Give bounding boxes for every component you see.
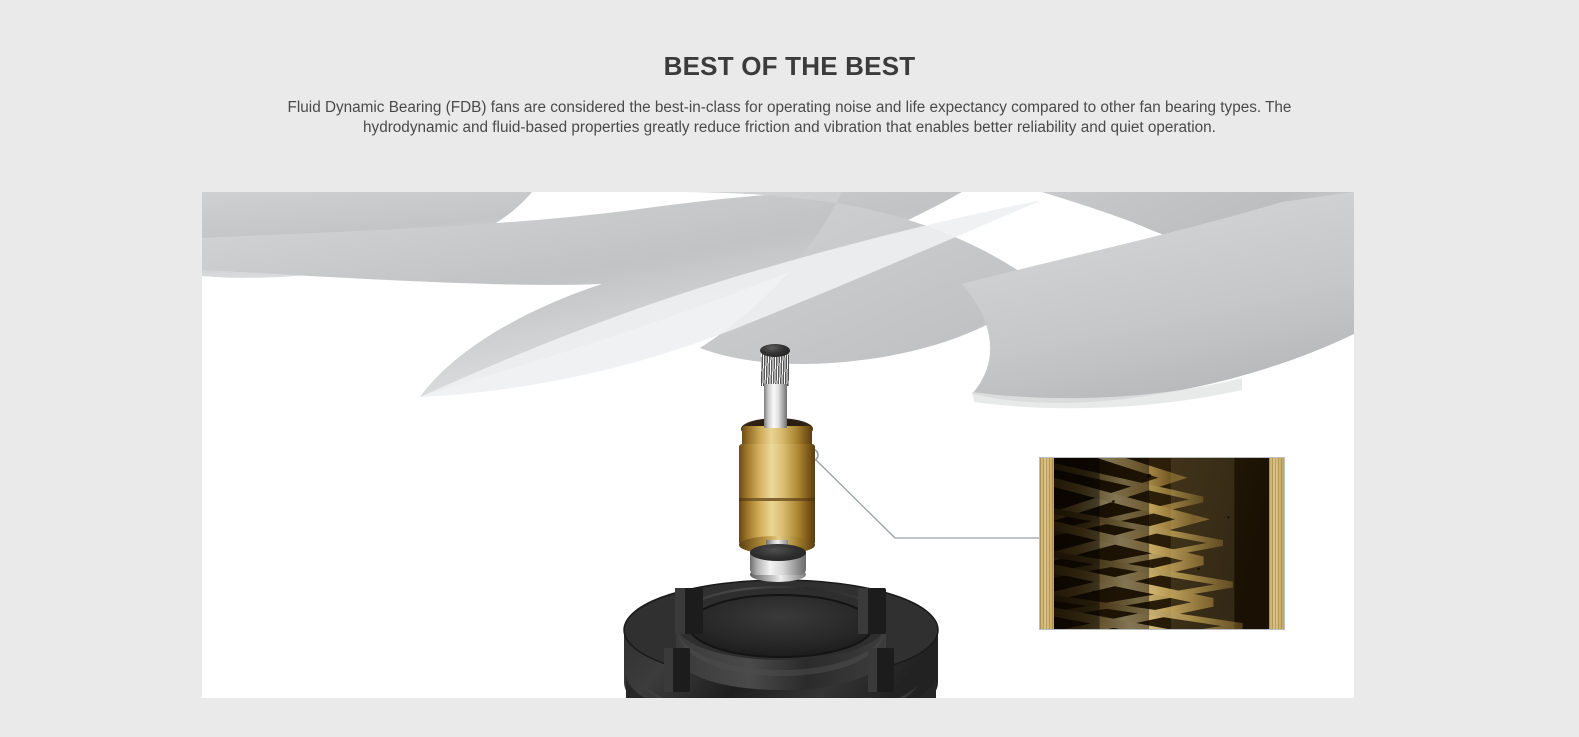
bearing-shaft bbox=[764, 384, 787, 428]
herringbone-groove-image bbox=[1054, 458, 1269, 629]
black-motor-hub bbox=[616, 574, 946, 698]
inset-left-edge-strip bbox=[1040, 458, 1054, 629]
shaft-cap bbox=[760, 344, 790, 357]
brass-sleeve-seam bbox=[739, 498, 815, 501]
inset-right-edge-strip bbox=[1269, 458, 1284, 629]
bearing-assembly bbox=[722, 340, 882, 580]
groove-magnification-inset bbox=[1039, 457, 1285, 630]
product-feature-section: BEST OF THE BEST Fluid Dynamic Bearing (… bbox=[0, 0, 1579, 737]
product-illustration-panel bbox=[202, 192, 1354, 698]
page-title: BEST OF THE BEST bbox=[0, 0, 1579, 81]
herringbone-pattern bbox=[1054, 458, 1269, 629]
washer-top-face bbox=[750, 544, 806, 561]
section-description: Fluid Dynamic Bearing (FDB) fans are con… bbox=[245, 81, 1335, 139]
heading-block: BEST OF THE BEST Fluid Dynamic Bearing (… bbox=[0, 0, 1579, 139]
brass-bearing-sleeve bbox=[739, 444, 815, 504]
